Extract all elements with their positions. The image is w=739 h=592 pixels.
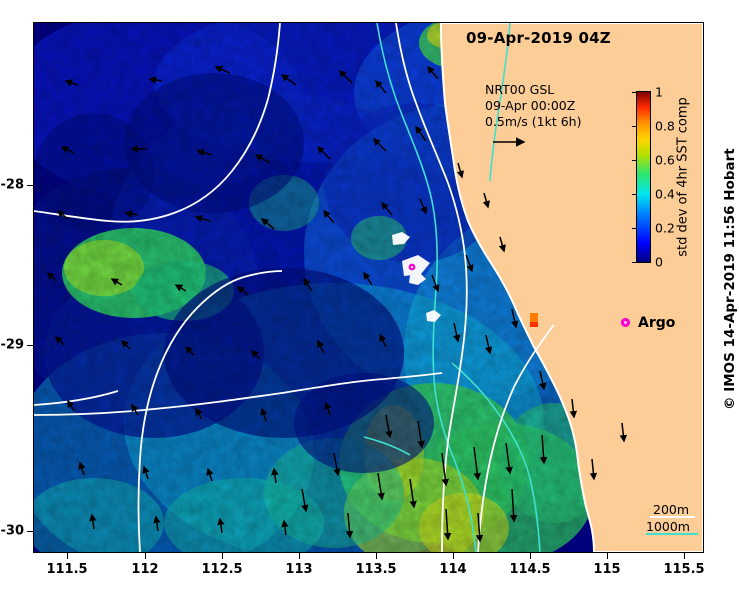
- colorbar-tick-0.2: 0.2: [655, 221, 675, 236]
- argo-float-markers: [34, 23, 703, 552]
- x-tick-label-114: 114: [439, 562, 466, 577]
- depth-legend-label-200m: 200m: [653, 502, 689, 517]
- x-tick-label-113.5: 113.5: [355, 562, 396, 577]
- depth-legend-line-1000m: [646, 533, 698, 535]
- x-tick-label-115: 115: [593, 562, 620, 577]
- x-tick-label-111.5: 111.5: [46, 562, 87, 577]
- y-tick-label--28: -28: [1, 178, 25, 193]
- y-tick-label--29: -29: [1, 338, 25, 353]
- map-plot-area[interactable]: [33, 22, 704, 553]
- colorbar-tick-0: 0: [655, 255, 663, 270]
- copyright-credit: © IMOS 14-Apr-2019 11:56 Hobart: [722, 148, 738, 410]
- reference-arrow-icon: [492, 137, 530, 147]
- x-tick-label-115.5: 115.5: [663, 562, 704, 577]
- plot-title: 09-Apr-2019 04Z: [466, 29, 611, 47]
- colorbar-tick-0.8: 0.8: [655, 119, 675, 134]
- x-tick-label-113: 113: [285, 562, 312, 577]
- depth-legend-line-200m: [650, 516, 695, 518]
- colorbar: [636, 91, 651, 263]
- x-tick-label-112: 112: [131, 562, 158, 577]
- figure-root: 09-Apr-2019 04Z NRT00 GSL 09-Apr 00:00Z …: [0, 0, 739, 592]
- annotation-line-scale: 0.5m/s (1kt 6h): [485, 114, 581, 130]
- annotation-line-datetime: 09-Apr 00:00Z: [485, 98, 581, 114]
- colorbar-tick-0.4: 0.4: [655, 187, 675, 202]
- argo-float-icon: [409, 264, 416, 271]
- argo-legend-icon: [621, 318, 630, 327]
- annotation-line-product: NRT00 GSL: [485, 82, 581, 98]
- colorbar-tick-0.6: 0.6: [655, 153, 675, 168]
- argo-legend-label: Argo: [638, 315, 675, 331]
- x-tick-label-112.5: 112.5: [201, 562, 242, 577]
- x-tick-label-114.5: 114.5: [509, 562, 550, 577]
- colorbar-title: std dev of 4hr SST comp: [676, 97, 691, 257]
- colorbar-tick-1: 1: [655, 85, 663, 100]
- depth-legend-label-1000m: 1000m: [646, 519, 690, 534]
- current-annotation: NRT00 GSL 09-Apr 00:00Z 0.5m/s (1kt 6h): [485, 82, 581, 130]
- y-tick-label--30: -30: [1, 524, 25, 539]
